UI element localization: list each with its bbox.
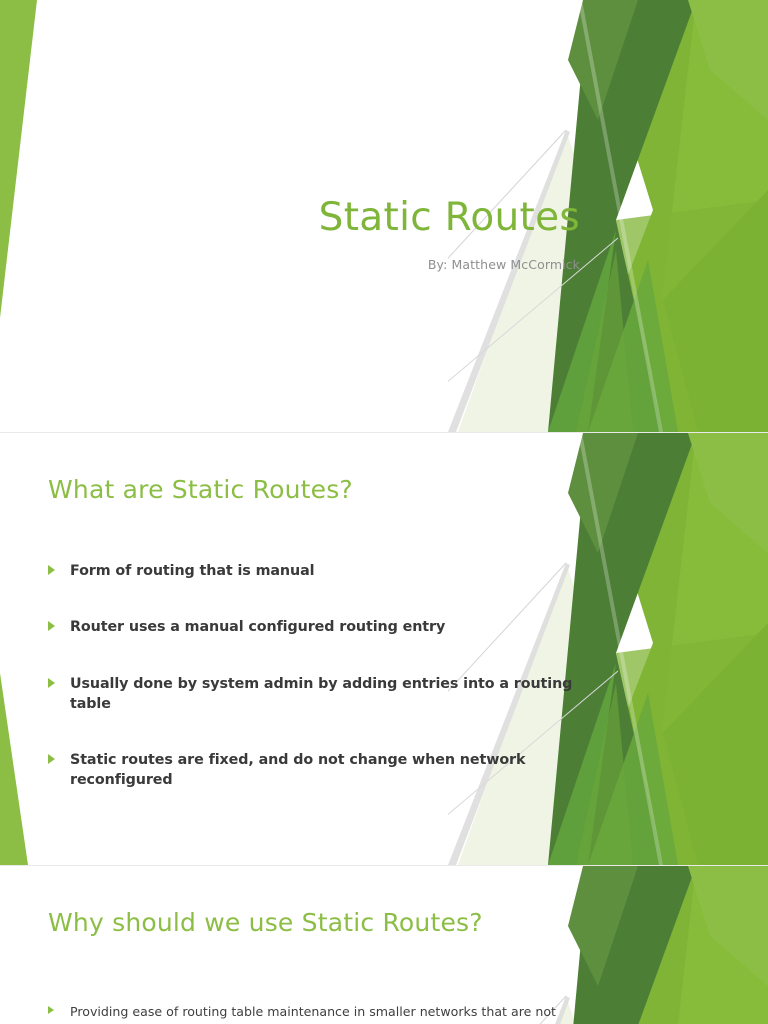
title-block: Static Routes By: Matthew McCormick bbox=[60, 196, 580, 272]
list-item: Form of routing that is manual bbox=[48, 561, 588, 581]
list-item-label: Usually done by system admin by adding e… bbox=[70, 674, 588, 715]
list-item: Providing ease of routing table maintena… bbox=[48, 1003, 593, 1021]
list-item: Usually done by system admin by adding e… bbox=[48, 674, 588, 715]
list-item: Router uses a manual configured routing … bbox=[48, 617, 588, 637]
triangle-bullet-icon bbox=[48, 754, 55, 764]
page-subtitle: By: Matthew McCormick bbox=[60, 257, 580, 272]
page-title: Static Routes bbox=[60, 196, 580, 241]
triangle-bullet-icon bbox=[48, 678, 55, 688]
triangle-bullet-icon bbox=[48, 621, 55, 631]
list-item-label: Providing ease of routing table maintena… bbox=[70, 1003, 593, 1021]
left-accent-wedge bbox=[0, 0, 60, 432]
bullet-list: Providing ease of routing table maintena… bbox=[48, 1003, 593, 1024]
list-item-label: Static routes are fixed, and do not chan… bbox=[70, 750, 588, 791]
document-canvas: Static Routes By: Matthew McCormick bbox=[0, 0, 768, 1024]
slide-title: Static Routes By: Matthew McCormick bbox=[0, 0, 768, 432]
slide-why-use-static-routes: Why should we use Static Routes? Providi… bbox=[0, 866, 768, 1024]
list-item-label: Form of routing that is manual bbox=[70, 561, 588, 581]
slide-heading: What are Static Routes? bbox=[48, 475, 353, 504]
triangle-bullet-icon bbox=[48, 1006, 54, 1014]
slide-heading: Why should we use Static Routes? bbox=[48, 908, 483, 937]
list-item: Static routes are fixed, and do not chan… bbox=[48, 750, 588, 791]
slide-what-are-static-routes: What are Static Routes? Form of routing … bbox=[0, 433, 768, 865]
triangle-bullet-icon bbox=[48, 565, 55, 575]
facet-decoration bbox=[448, 866, 768, 1024]
bullet-list: Form of routing that is manual Router us… bbox=[48, 561, 588, 827]
list-item-label: Router uses a manual configured routing … bbox=[70, 617, 588, 637]
